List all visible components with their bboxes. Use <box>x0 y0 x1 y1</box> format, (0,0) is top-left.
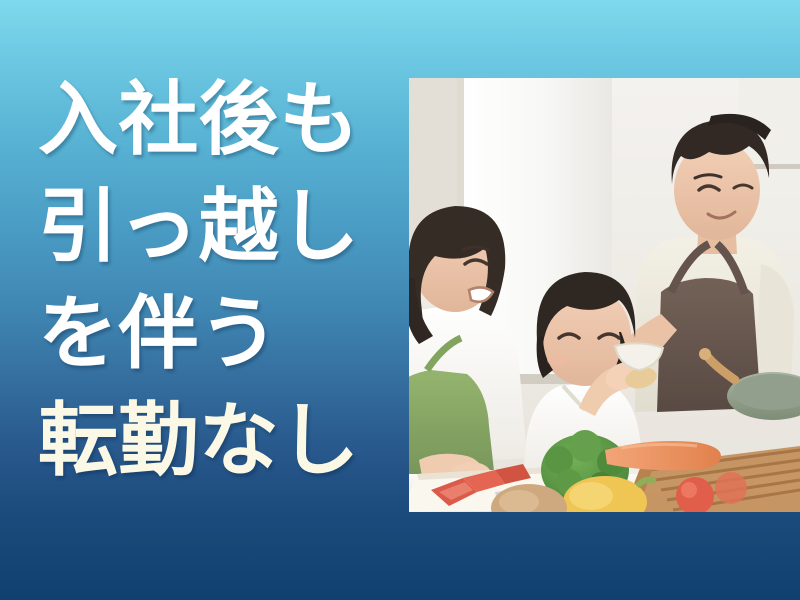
recruitment-banner: 入社後も 引っ越し を伴う 転勤なし <box>0 0 800 600</box>
headline-block: 入社後も 引っ越し を伴う 転勤なし <box>38 80 398 481</box>
photo-illustration <box>409 78 800 512</box>
headline-line-1: 入社後も <box>38 80 398 160</box>
family-cooking-photo <box>409 78 800 512</box>
headline-line-3: を伴う <box>38 294 398 374</box>
headline-line-4: 転勤なし <box>38 401 398 481</box>
photo-light-wash <box>409 78 800 512</box>
headline-line-2: 引っ越し <box>38 187 398 267</box>
